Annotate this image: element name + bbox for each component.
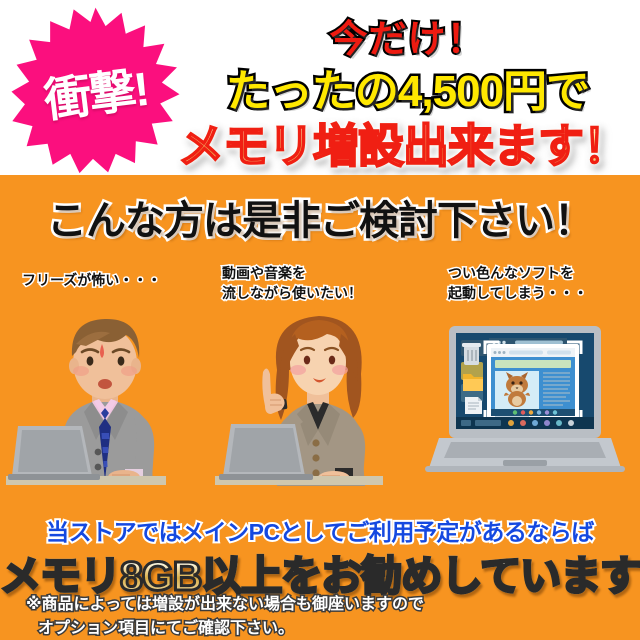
headline-group: 今だけ！ たったの4,500円で メモリ増設出来ます！ (175, 0, 640, 175)
caption-freeze-line-1: フリーズが怖い・・・ (22, 272, 161, 288)
caption-software: つい色んなソフトを 起動してしまう・・・ (448, 263, 588, 304)
caption-software-line-1: つい色んなソフトを (448, 265, 574, 281)
worried-man-figure (6, 300, 206, 490)
trash-icon (462, 343, 481, 365)
illustration-worried-businessman (6, 300, 206, 490)
advertisement-banner: 衝撃! 今だけ！ たったの4,500円で メモリ増設出来ます！ こんな方は是非ご… (0, 0, 640, 640)
pointing-woman-figure (215, 300, 415, 490)
document-icon (465, 397, 482, 414)
shock-badge: 衝撃! (8, 6, 183, 174)
caption-media-line-2: 流しながら使いたい！ (222, 285, 362, 301)
laptop-many-windows-figure (425, 300, 625, 490)
footer-note: ※商品によっては増設が出来ない場合も御座いますので オプション項目にてご確認下さ… (26, 593, 424, 640)
sub-heading: こんな方は是非ご検討下さい！ (0, 188, 640, 246)
caption-freeze: フリーズが怖い・・・ (22, 270, 161, 290)
footer-note-line-1: ※商品によっては増設が出来ない場合も御座いますので (26, 596, 424, 613)
header-section: 衝撃! 今だけ！ たったの4,500円で メモリ増設出来ます！ (0, 0, 640, 175)
illustration-pointing-businesswoman (215, 300, 415, 490)
footer-note-line-2: オプション項目にてご確認下さい。 (26, 617, 424, 640)
illustration-laptop-windows (425, 300, 625, 490)
caption-media-line-1: 動画や音楽を (222, 265, 306, 281)
main-section: こんな方は是非ご検討下さい！ フリーズが怖い・・・ 動画や音楽を 流しながら使い… (0, 175, 640, 640)
headline-line-3: メモリ増設出来ます！ (163, 110, 640, 176)
caption-software-line-2: 起動してしまう・・・ (448, 285, 588, 301)
caption-media: 動画や音楽を 流しながら使いたい！ (222, 263, 362, 304)
